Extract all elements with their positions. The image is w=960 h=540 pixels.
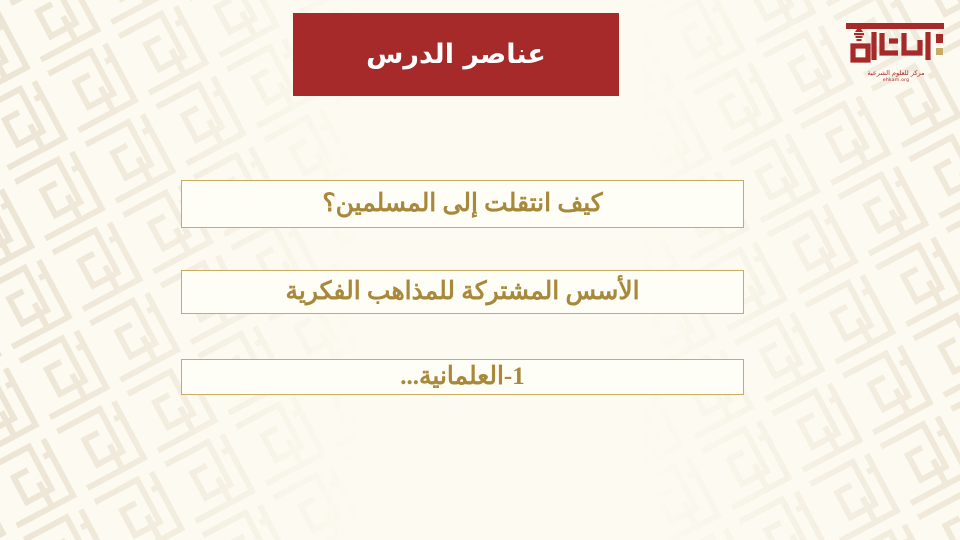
lesson-element-label: كيف انتقلت إلى المسلمين؟ (322, 190, 602, 218)
lesson-element-label: 1-العلمانية... (400, 363, 524, 391)
lesson-element-item-3[interactable]: 1-العلمانية... (181, 359, 744, 395)
lesson-element-label: الأسس المشتركة للمذاهب الفكرية (285, 278, 639, 306)
brand-logo: مركز للعلوم الشرعية ehkam.org (840, 20, 952, 92)
slide-title-text: عناصر الدرس (366, 41, 546, 68)
slide-canvas: عناصر الدرس (0, 0, 960, 540)
slide-title-banner: عناصر الدرس (293, 13, 619, 96)
ehkam-wordmark-icon (840, 20, 952, 68)
lesson-element-item-2[interactable]: الأسس المشتركة للمذاهب الفكرية (181, 270, 744, 314)
logo-subtitle: مركز للعلوم الشرعية (840, 69, 952, 77)
logo-url: ehkam.org (840, 78, 952, 83)
lesson-element-item-1[interactable]: كيف انتقلت إلى المسلمين؟ (181, 180, 744, 228)
lesson-elements-list: كيف انتقلت إلى المسلمين؟ الأسس المشتركة … (181, 180, 744, 395)
